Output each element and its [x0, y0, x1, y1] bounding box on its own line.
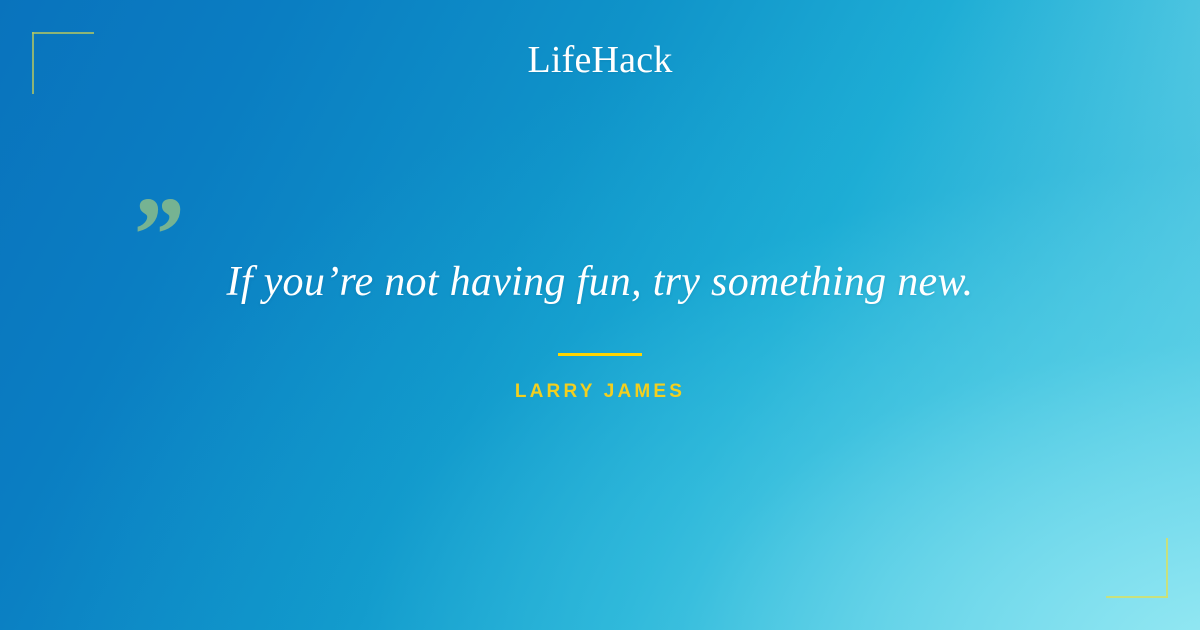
quote-author: LARRY JAMES [0, 380, 1200, 404]
corner-bracket-bottom-right-vertical [1166, 538, 1168, 598]
quote-divider [558, 353, 642, 356]
corner-bracket-bottom-right-icon [1106, 538, 1168, 598]
corner-bracket-top-left-horizontal [32, 32, 94, 34]
corner-bracket-bottom-right-horizontal [1106, 596, 1168, 598]
quote-block: If you’re not having fun, try something … [0, 255, 1200, 404]
quote-text: If you’re not having fun, try something … [0, 255, 1200, 309]
lifehack-logo: LifeHack [0, 38, 1200, 82]
quote-card-canvas: LifeHack ” If you’re not having fun, try… [0, 0, 1200, 630]
